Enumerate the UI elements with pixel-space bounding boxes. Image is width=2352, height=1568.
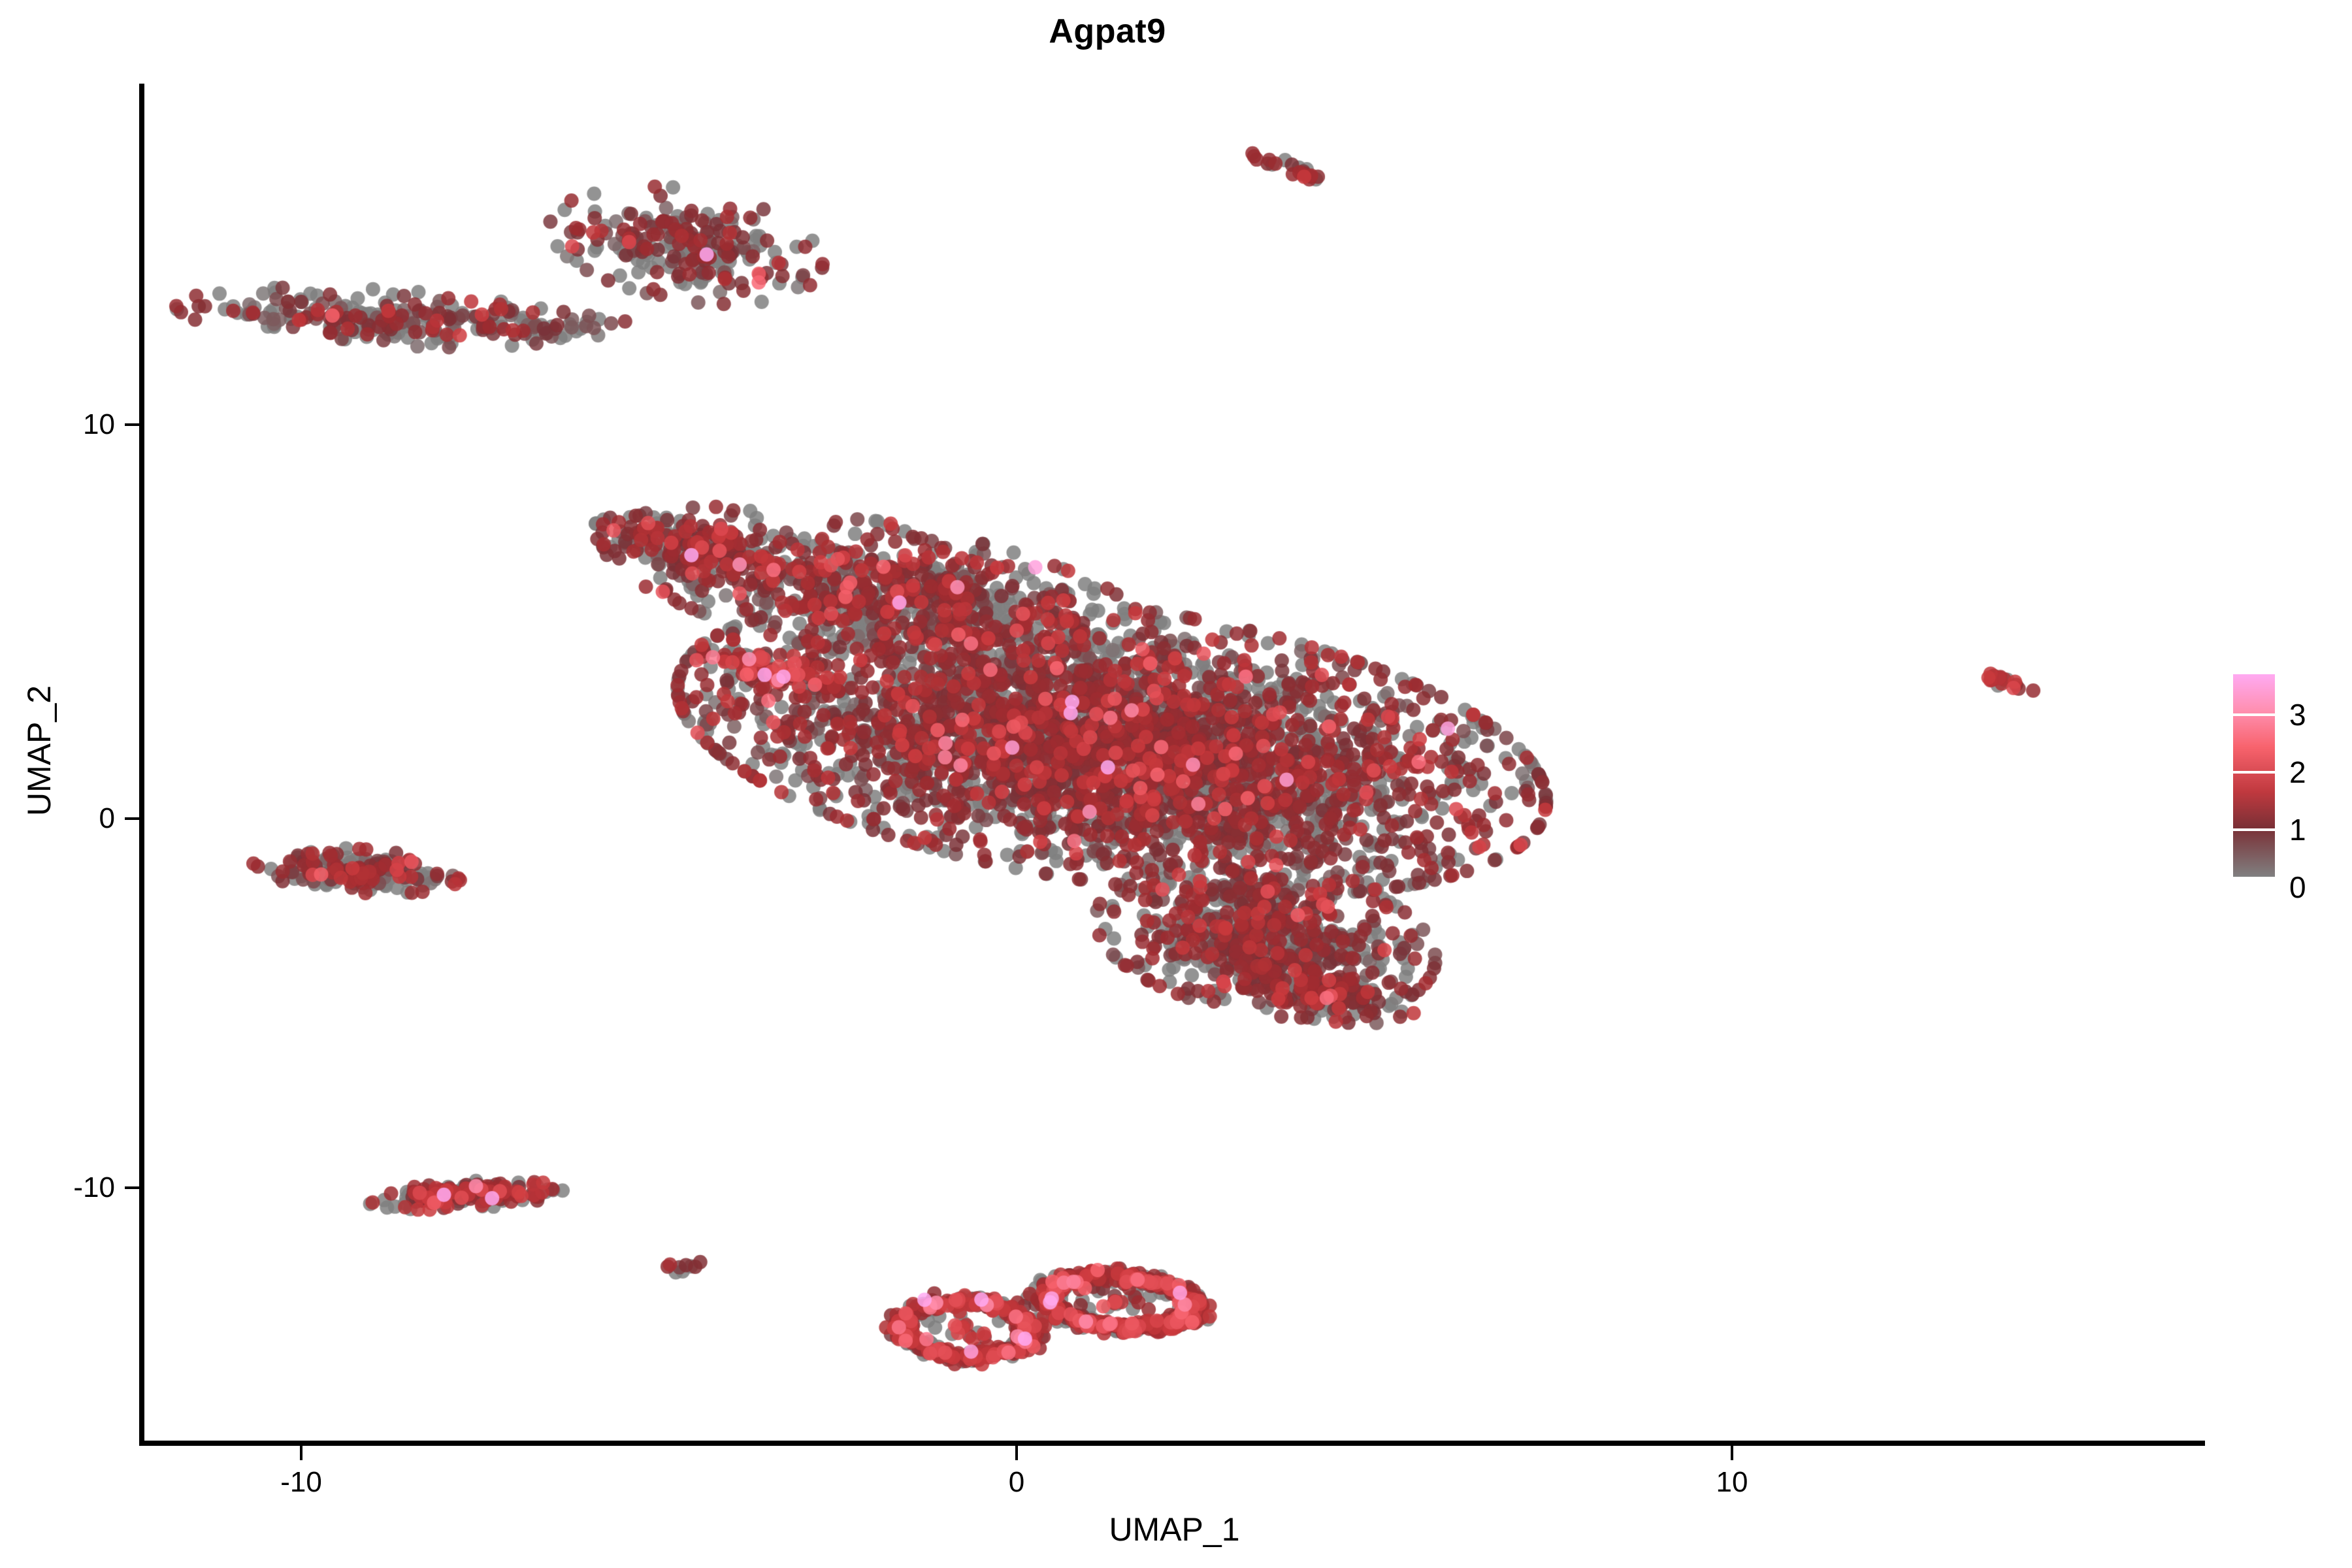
x-tick-mark bbox=[1731, 1446, 1733, 1460]
colorbar-tick bbox=[2233, 713, 2275, 716]
y-tick-mark bbox=[125, 1186, 139, 1189]
colorbar-tick bbox=[2233, 828, 2275, 831]
y-axis-title: UMAP_2 bbox=[20, 359, 58, 1143]
feature-plot-figure: Agpat9 -10 0 10 10 0 -10 UMAP_1 UMAP_2 3… bbox=[0, 0, 2352, 1568]
x-tick-mark bbox=[1015, 1446, 1018, 1460]
y-tick-label: 10 bbox=[83, 408, 115, 441]
y-tick-mark bbox=[125, 817, 139, 820]
colorbar-tick bbox=[2233, 874, 2275, 877]
plot-panel bbox=[144, 85, 2205, 1441]
x-tick-mark bbox=[300, 1446, 302, 1460]
y-tick-label: -10 bbox=[73, 1171, 115, 1204]
colorbar-tick bbox=[2233, 771, 2275, 774]
colorbar-label: 2 bbox=[2289, 755, 2306, 790]
page-title: Agpat9 bbox=[0, 12, 2215, 51]
colorbar-label: 1 bbox=[2289, 812, 2306, 847]
scatter-points-canvas bbox=[144, 85, 2205, 1441]
x-tick-label: -10 bbox=[280, 1466, 322, 1499]
colorbar-label: 0 bbox=[2289, 870, 2306, 905]
colorbar-gradient bbox=[2233, 674, 2275, 877]
y-tick-label: 0 bbox=[99, 802, 115, 835]
y-tick-mark bbox=[125, 423, 139, 426]
colorbar-label: 3 bbox=[2289, 697, 2306, 732]
y-axis-line bbox=[139, 84, 144, 1445]
x-tick-label: 0 bbox=[1009, 1466, 1024, 1499]
x-axis-line bbox=[139, 1441, 2205, 1446]
color-legend: 3 2 1 0 bbox=[2233, 674, 2344, 890]
x-tick-label: 10 bbox=[1716, 1466, 1748, 1499]
x-axis-title: UMAP_1 bbox=[144, 1511, 2205, 1548]
